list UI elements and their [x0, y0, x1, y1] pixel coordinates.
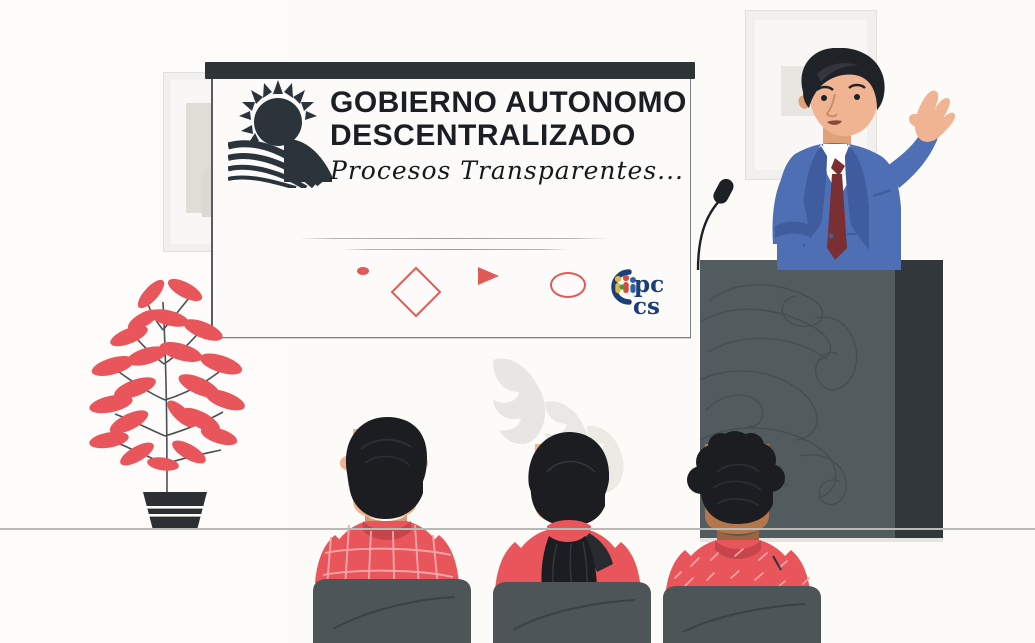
chair-1 — [313, 579, 471, 643]
screen-title-line-2: DESCENTRALIZADO — [330, 119, 686, 152]
screen-title-block: GOBIERNO AUTONOMO DESCENTRALIZADO Proces… — [330, 86, 686, 185]
illustration-scene: GOBIERNO AUTONOMO DESCENTRALIZADO Proces… — [0, 0, 1035, 643]
gad-sun-hill-logo — [228, 78, 340, 188]
presenter-hand — [909, 91, 955, 142]
podium-side-panel — [895, 260, 943, 540]
potted-plant — [85, 268, 250, 530]
projector-screen-case — [205, 62, 695, 79]
red-dot-icon — [357, 267, 369, 275]
floor-wall-line — [0, 528, 1035, 530]
screen-slogan: Procesos Transparentes... — [330, 156, 686, 185]
cpccs-logo: pc cs — [603, 262, 673, 320]
divider-line-long — [297, 238, 611, 239]
chair-3 — [663, 586, 821, 643]
audience-member-3 — [655, 428, 830, 643]
presenter-head — [798, 48, 884, 136]
audience-member-2 — [485, 432, 660, 643]
cpccs-letters-bottom: cs — [633, 293, 660, 320]
red-ellipse-outline-icon — [550, 272, 586, 298]
screen-title-line-1: GOBIERNO AUTONOMO — [330, 86, 686, 119]
chair-2 — [493, 582, 651, 643]
red-triangle-icon — [478, 267, 499, 285]
presenter-figure — [735, 48, 955, 270]
divider-line-short — [340, 249, 570, 250]
